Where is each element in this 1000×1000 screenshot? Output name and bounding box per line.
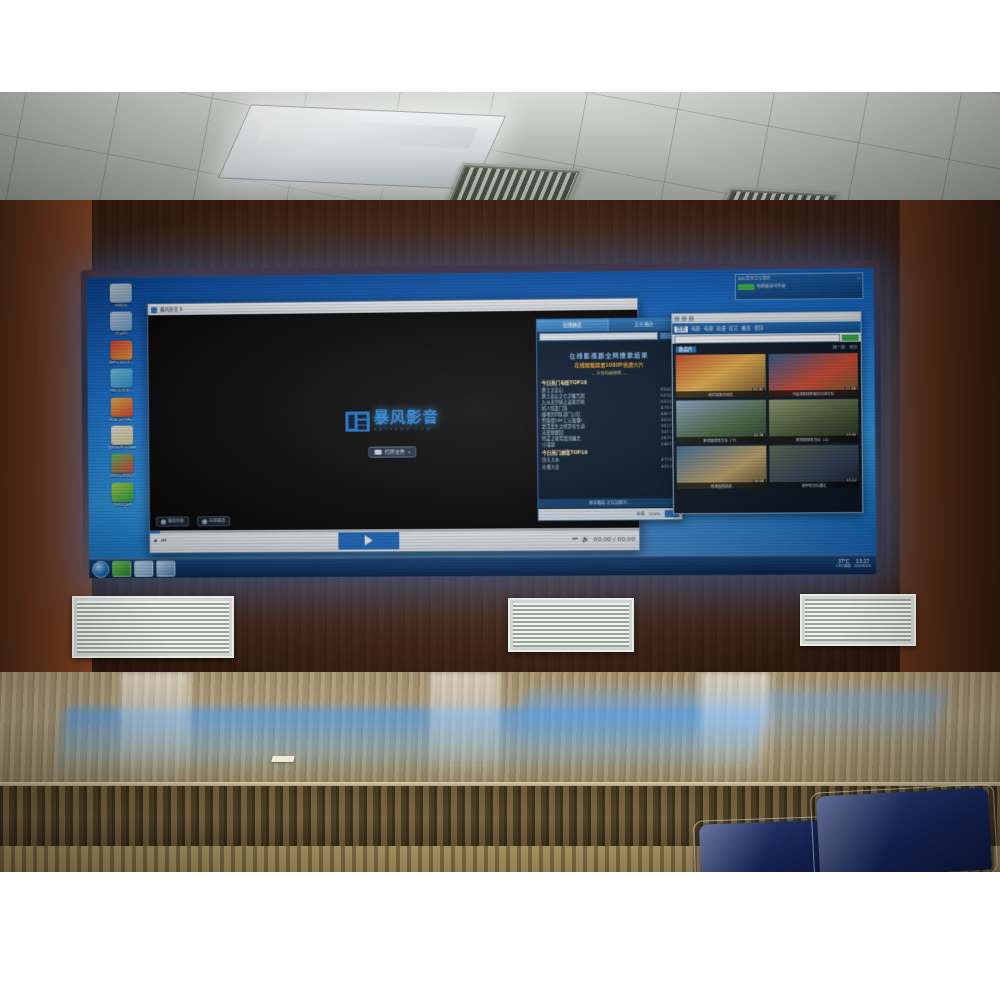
- thumbnail-caption: 阅兵现场大阅兵: [676, 391, 765, 398]
- online-channel-label: 在线频道: [209, 518, 225, 524]
- status-left: 就绪: [636, 511, 644, 517]
- desktop-icon[interactable]: 360安全浏…: [93, 369, 149, 394]
- paper-on-stage: [271, 756, 294, 762]
- nav-home[interactable]: 首页: [674, 326, 688, 332]
- letterbox-bottom: [0, 872, 1000, 1000]
- list-item[interactable]: 吐槽大会431084: [542, 463, 678, 470]
- recycle-bin-icon: [110, 283, 132, 302]
- nav-tv[interactable]: 电视: [704, 326, 714, 332]
- desktop-icon-label: 使用说明书.doc: [108, 446, 137, 451]
- desktop-icon-label: WPS 2019…: [109, 360, 133, 365]
- section-header: 热点片 换一换 更多: [676, 345, 858, 353]
- tab-online-channel[interactable]: 在线频道: [537, 319, 609, 332]
- windows-taskbar[interactable]: 37°C CPU温度 13:27 2019/9/5: [89, 555, 876, 578]
- led-software-icon: [111, 454, 133, 473]
- taskbar-item-led-software[interactable]: [156, 561, 175, 577]
- light-reflection-3: [700, 672, 770, 790]
- video-thumbnail[interactable]: 00:58 现场直播报道: [676, 445, 766, 488]
- item-name: 吐槽大会: [542, 464, 559, 470]
- nav-education[interactable]: 教育: [741, 325, 751, 331]
- section-title: 今日热门电影TOP10: [541, 379, 676, 386]
- desktop-icon-label: 暴风影音5: [113, 502, 132, 507]
- play-button[interactable]: [338, 531, 399, 549]
- video-thumbnail[interactable]: 01:35 阅兵现场大阅兵: [676, 354, 766, 398]
- online-channel-button[interactable]: 在线频道: [197, 516, 230, 526]
- nav-news[interactable]: 资讯: [754, 325, 764, 331]
- nav-movies[interactable]: 电影: [691, 326, 701, 332]
- chair-plastic-wrap-right: [810, 783, 998, 883]
- open-file-label: 打开文件: [385, 449, 405, 456]
- prev-button[interactable]: ⏮: [161, 538, 166, 546]
- desktop-icon[interactable]: 使用说明书.doc: [94, 425, 150, 450]
- baofeng-icon: [111, 482, 133, 501]
- baofeng-mark-icon: [345, 411, 369, 431]
- start-button[interactable]: [92, 560, 109, 577]
- folder-icon: [111, 397, 133, 416]
- screen-surface: 回收站 计算机 WPS 2019… 360安全浏… 新建 文件夹…: [87, 268, 877, 578]
- photo-of-conference-room: 回收站 计算机 WPS 2019… 360安全浏… 新建 文件夹…: [0, 0, 1000, 1000]
- nav-variety[interactable]: 综艺: [729, 325, 739, 331]
- time-display: 00:00 / 00:00: [594, 535, 636, 542]
- channel-search-input[interactable]: [539, 332, 658, 341]
- play-icon: [364, 535, 372, 545]
- tab-now-playing[interactable]: 正在播放: [609, 318, 681, 331]
- stage-top-surface: [0, 672, 1000, 790]
- cpu-temp-label: CPU温度: [836, 566, 851, 570]
- browser-content: 热点片 换一换 更多 01:35 阅兵现场大阅兵: [672, 342, 862, 514]
- player-footer-buttons: 播放列表 在线频道: [156, 516, 230, 526]
- wall-air-vent-left: [72, 596, 234, 658]
- player-title: 暴风影音 5: [160, 306, 182, 312]
- clock-date: 2019/9/5: [854, 565, 871, 569]
- item-name: 小锦狼: [542, 442, 555, 448]
- status-mid: 100%: [649, 511, 661, 516]
- more-link[interactable]: 更多: [849, 345, 857, 351]
- open-file-button[interactable]: 打开文件 ▾: [368, 447, 416, 458]
- desktop-icon[interactable]: WPS 2019…: [93, 340, 149, 365]
- light-reflection-2: [430, 672, 500, 790]
- stop-button[interactable]: ⏹: [154, 538, 157, 546]
- document-icon: [111, 426, 133, 445]
- channel-footer: 更多精彩 正在加载中…: [538, 498, 682, 508]
- channel-hot-list: 今日热门电影TOP10 勇士之出山834456 勇士出山之七夕魔咒团523424…: [537, 379, 681, 471]
- system-tray[interactable]: 37°C CPU温度 13:27 2019/9/5: [836, 560, 873, 569]
- channel-subnote: — 片库持续更新 —: [537, 370, 681, 378]
- letterbox-top: [0, 0, 1000, 92]
- taskbar-item-browser[interactable]: [134, 561, 153, 577]
- close-icon[interactable]: ✕: [857, 275, 861, 280]
- video-thumbnail[interactable]: 02:18 野军解放军方队（下）: [676, 400, 766, 443]
- desktop-icon[interactable]: LED控制软件: [94, 454, 150, 479]
- refresh-link[interactable]: 换一换: [833, 345, 846, 351]
- baofeng-logo: 暴风影音 BAOFENG.COM: [345, 410, 439, 432]
- desktop-icon[interactable]: 回收站: [93, 283, 149, 308]
- channel-heading: 在线影视剧全网搜索结果: [537, 341, 681, 364]
- browser-icon: [110, 369, 132, 388]
- thumbnail-caption: 野军解放军方队（下）: [676, 436, 765, 443]
- online-channel-panel[interactable]: 在线频道 正在播放 在线影视剧全网搜索结果 在线观看超清1080P高清大片 — …: [536, 317, 683, 521]
- baofeng-brand-cn: 暴风影音: [374, 410, 439, 426]
- folder-icon: [375, 450, 382, 455]
- baofeng-brand-en: BAOFENG.COM: [374, 426, 439, 432]
- search-button[interactable]: [842, 334, 859, 340]
- chevron-down-icon: ▾: [408, 450, 410, 455]
- seek-progress: [150, 531, 160, 534]
- section-links[interactable]: 换一换 更多: [833, 345, 858, 351]
- playlist-button[interactable]: 播放列表: [156, 516, 189, 526]
- globe-icon: [202, 519, 207, 524]
- next-button[interactable]: ⏭: [572, 535, 578, 543]
- browser-window[interactable]: 首页 电影 电视 动漫 综艺 教育 资讯 热点片 换一换: [671, 311, 863, 514]
- computer-icon: [110, 312, 132, 331]
- desktop-icon-label: 360安全浏…: [110, 389, 134, 394]
- cpu-temperature: 37°C CPU温度: [836, 561, 851, 570]
- desktop-icon-label: 回收站: [115, 304, 127, 309]
- desktop-icon-column: 回收站 计算机 WPS 2019… 360安全浏… 新建 文件夹…: [93, 283, 151, 511]
- desktop-icon[interactable]: 计算机: [93, 312, 149, 337]
- light-reflection-1: [120, 672, 190, 790]
- thumbnail-caption: 中国海军特种部队行进方队: [768, 390, 858, 397]
- thumbnail-caption: 野军解放军方队（上）: [769, 436, 859, 443]
- video-thumbnail[interactable]: 01:56 中国海军特种部队行进方队: [768, 353, 858, 397]
- wall-air-vent-right: [800, 594, 916, 646]
- notification-toast[interactable]: 360安全卫士提示 ✕ 有新版本可升级: [735, 272, 864, 300]
- toast-action-button[interactable]: [738, 284, 755, 290]
- video-thumbnail[interactable]: 01:12 装甲车方队通过: [769, 445, 859, 488]
- volume-icon[interactable]: 🔊: [582, 536, 590, 543]
- toast-title: 360安全卫士提示: [738, 276, 771, 283]
- section-title: 今日热门剧集TOP10: [542, 450, 678, 457]
- desktop-icon-label: 计算机: [115, 332, 127, 337]
- list-item[interactable]: 小锦狼246369: [542, 441, 678, 448]
- player-app-icon: [151, 307, 157, 313]
- clock[interactable]: 13:27 2019/9/5: [854, 561, 871, 570]
- playlist-label: 播放列表: [168, 518, 184, 524]
- thumbnail-grid: 01:35 阅兵现场大阅兵 01:56 中国海军特种部队行进方队 02:18 野…: [676, 353, 859, 489]
- browser-app-icon: [674, 316, 679, 321]
- desktop-icon-label: 新建 文件夹…: [109, 417, 134, 422]
- player-control-bar[interactable]: ⏹ ⏮ ⏭ 🔊 00:00 / 00:00: [150, 528, 639, 553]
- led-video-wall: 回收站 计算机 WPS 2019… 360安全浏… 新建 文件夹…: [87, 268, 877, 578]
- video-thumbnail[interactable]: 03:02 野军解放军方队（上）: [768, 399, 858, 443]
- nav-anime[interactable]: 动漫: [716, 325, 726, 331]
- browser-newtab-icon[interactable]: [689, 316, 694, 321]
- channel-status-bar: 就绪 100%: [539, 508, 683, 520]
- thumbnail-caption: 装甲车方队通过: [769, 481, 859, 488]
- browser-tab-icon: [682, 316, 687, 321]
- desktop-icon-label: LED控制软件: [110, 474, 134, 479]
- desktop-icon[interactable]: 新建 文件夹…: [94, 397, 150, 422]
- wall-air-vent-center: [508, 598, 634, 652]
- toast-message: 有新版本可升级: [757, 283, 786, 289]
- channel-tab-bar: 在线频道 正在播放: [537, 318, 681, 332]
- desktop-icon[interactable]: 暴风影音5: [94, 482, 150, 507]
- wps-office-icon: [110, 340, 132, 359]
- section-title: 热点片: [676, 347, 696, 353]
- taskbar-item-baofeng[interactable]: [112, 561, 131, 577]
- thumbnail-caption: 现场直播报道: [677, 482, 766, 489]
- playlist-icon: [161, 519, 166, 524]
